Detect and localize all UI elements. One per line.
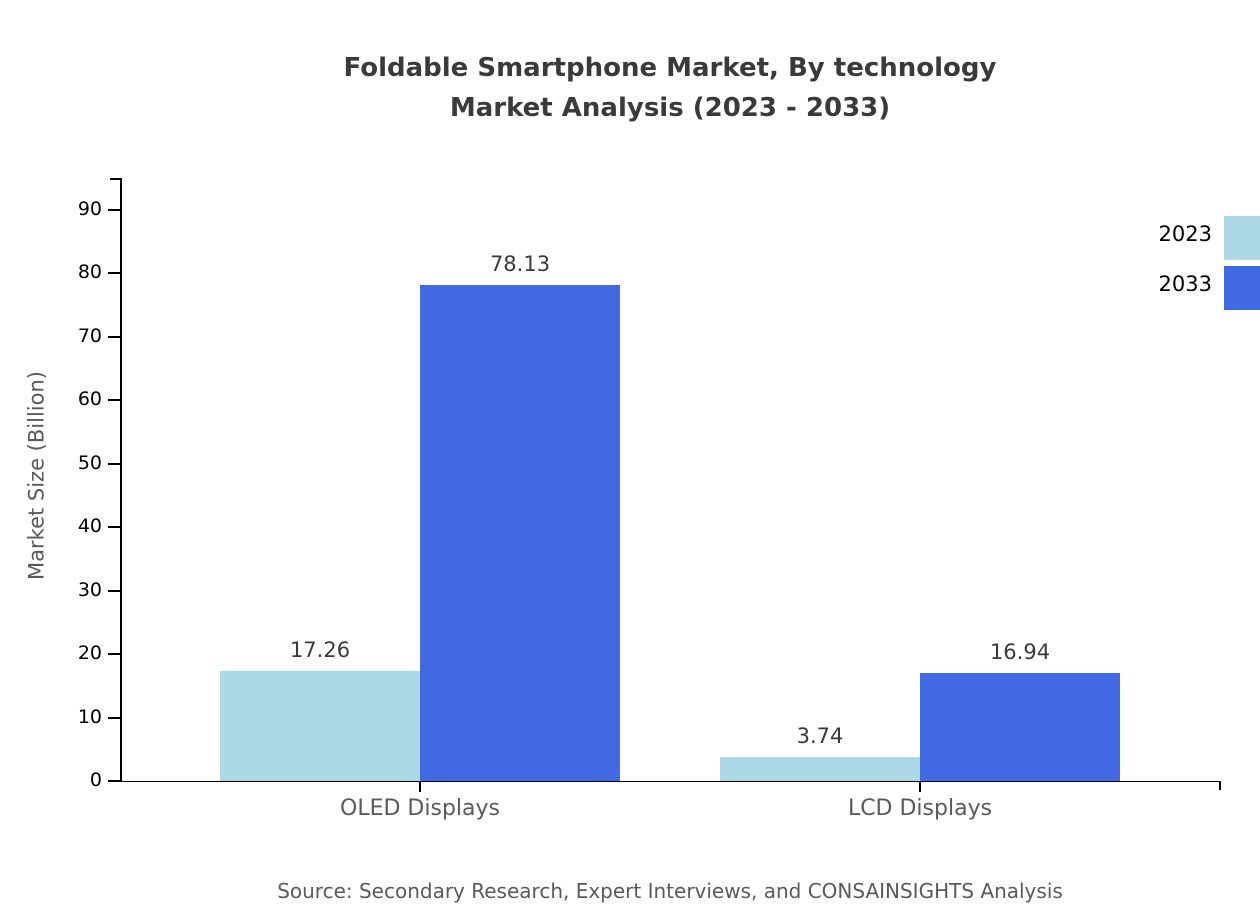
legend-item-2033[interactable]: 2033 — [1120, 266, 1260, 316]
x-tick-oled-displays — [419, 781, 421, 792]
bar-2033-oled-displays[interactable] — [420, 285, 620, 781]
y-tick-label-10: 10 — [78, 708, 102, 727]
legend-swatch-2033 — [1224, 266, 1260, 310]
y-tick-label-70: 70 — [78, 327, 102, 346]
chart-title: Foldable Smartphone Market, By technolog… — [0, 48, 1260, 128]
x-tick-label-oled-displays: OLED Displays — [220, 795, 620, 823]
legend-label-2033: 2033 — [1159, 274, 1212, 295]
bar-2023-lcd-displays[interactable] — [720, 757, 920, 781]
y-tick-20 — [108, 653, 120, 655]
y-tick-label-30: 30 — [78, 581, 102, 600]
y-tick-90 — [108, 209, 120, 211]
bar-value-label-2023-oled-displays: 17.26 — [220, 640, 420, 661]
chart-title-line-2: Market Analysis (2023 - 2033) — [0, 88, 1260, 128]
bar-value-label-2033-lcd-displays: 16.94 — [920, 642, 1120, 663]
y-tick-label-20: 20 — [78, 644, 102, 663]
plot-area: 17.2678.133.7416.94 — [122, 178, 1221, 781]
legend-item-2023[interactable]: 2023 — [1120, 216, 1260, 266]
y-tick-50 — [108, 463, 120, 465]
bar-2033-lcd-displays[interactable] — [920, 673, 1120, 781]
y-tick-label-50: 50 — [78, 454, 102, 473]
chart-figure: Foldable Smartphone Market, By technolog… — [0, 0, 1260, 920]
y-tick-40 — [108, 526, 120, 528]
y-tick-label-40: 40 — [78, 517, 102, 536]
x-axis-end-tick — [1219, 780, 1221, 790]
bar-value-label-2033-oled-displays: 78.13 — [420, 254, 620, 275]
legend: 2023 2033 — [1120, 216, 1260, 316]
y-tick-label-60: 60 — [78, 390, 102, 409]
y-tick-80 — [108, 272, 120, 274]
y-tick-label-0: 0 — [90, 771, 102, 790]
source-note: Source: Secondary Research, Expert Inter… — [0, 878, 1260, 904]
chart-title-line-1: Foldable Smartphone Market, By technolog… — [0, 48, 1260, 88]
y-tick-10 — [108, 717, 120, 719]
y-tick-60 — [108, 399, 120, 401]
bar-value-label-2023-lcd-displays: 3.74 — [720, 726, 920, 747]
legend-swatch-2023 — [1224, 216, 1260, 260]
y-axis-title: Market Size (Billion) — [27, 326, 48, 626]
y-tick-30 — [108, 590, 120, 592]
y-tick-70 — [108, 336, 120, 338]
legend-label-2023: 2023 — [1159, 224, 1212, 245]
y-tick-label-80: 80 — [78, 263, 102, 282]
y-tick-0 — [108, 780, 120, 782]
x-tick-lcd-displays — [919, 781, 921, 792]
bar-2023-oled-displays[interactable] — [220, 671, 420, 781]
x-tick-label-lcd-displays: LCD Displays — [720, 795, 1120, 823]
y-axis-top-tick — [110, 178, 122, 180]
y-tick-label-90: 90 — [78, 200, 102, 219]
